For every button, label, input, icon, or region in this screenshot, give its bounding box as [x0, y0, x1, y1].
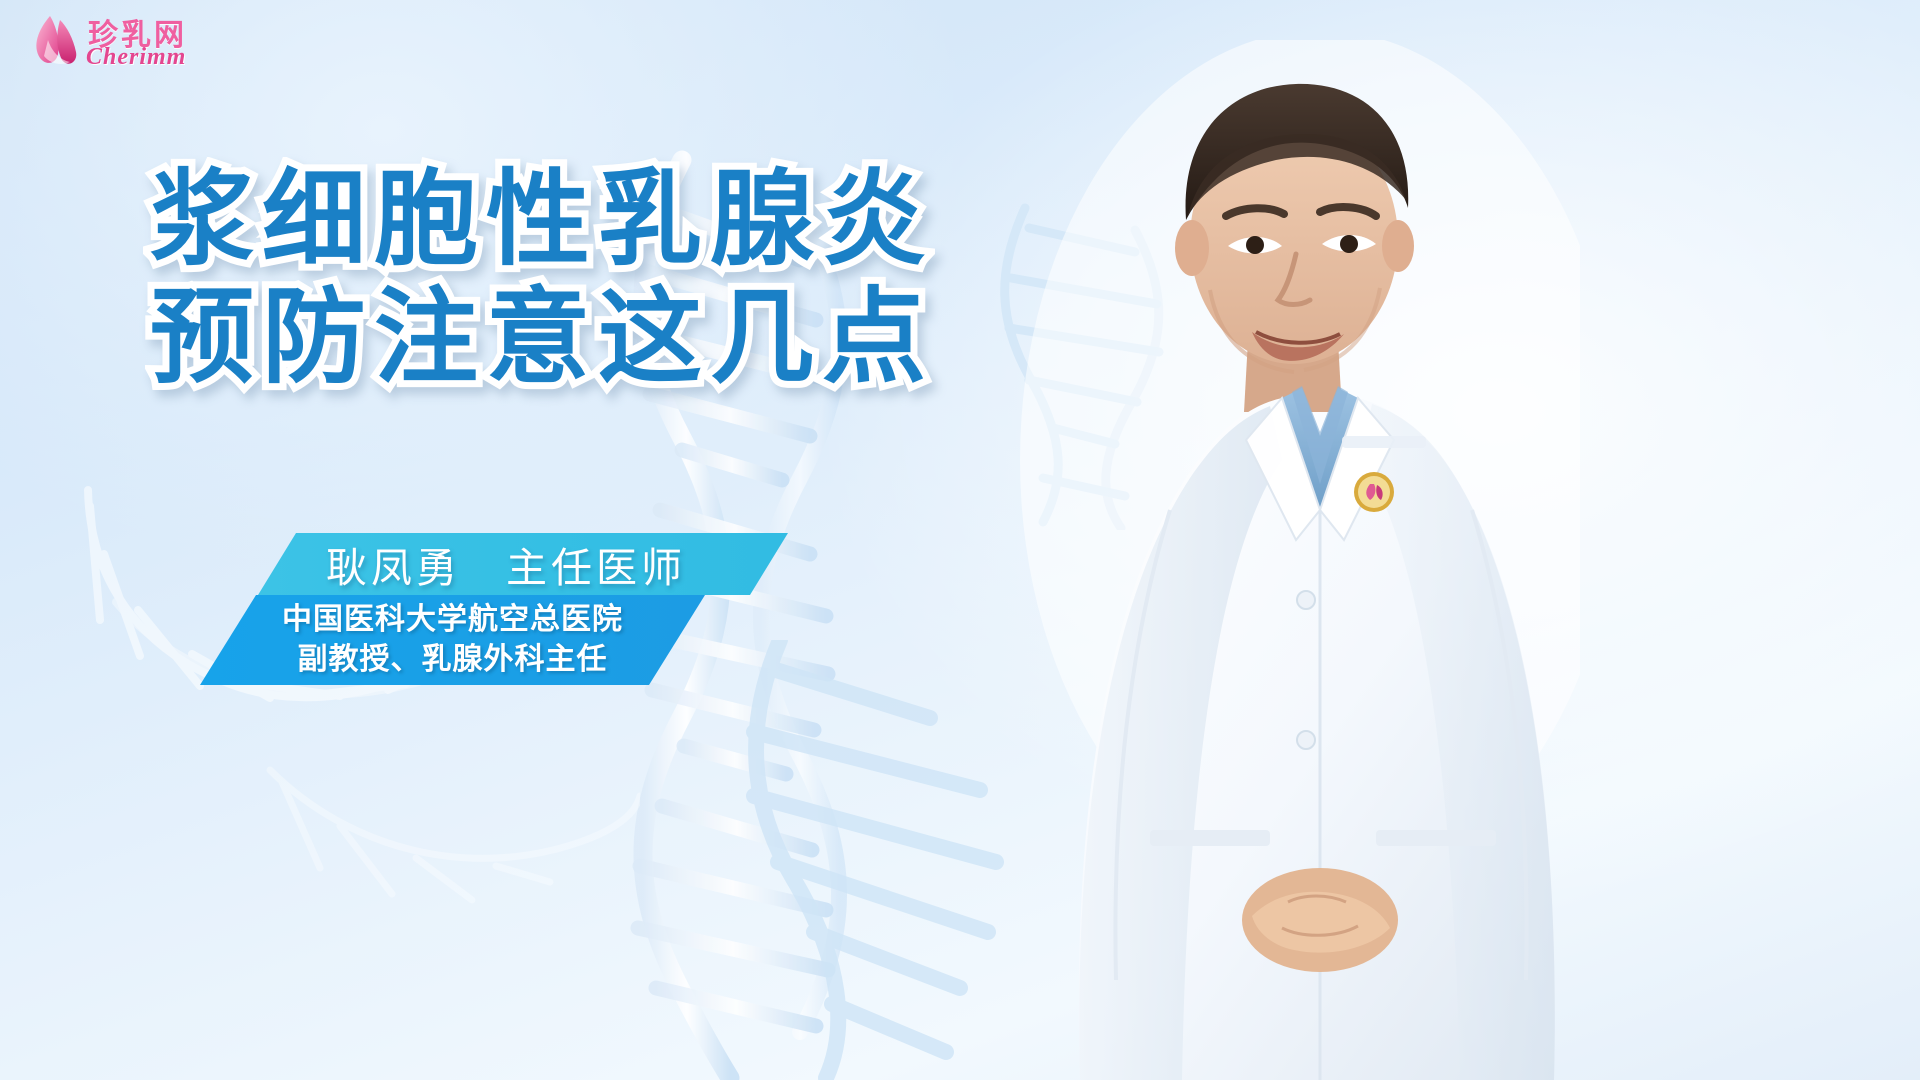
page-title: 浆细胞性乳腺炎 预防注意这几点 — [150, 160, 1050, 396]
brand-logo[interactable]: 珍乳网 Cherimm — [26, 6, 256, 72]
affiliation-line-2: 副教授、乳腺外科主任 — [298, 640, 608, 680]
gold-lapel-pin-icon — [1354, 472, 1394, 512]
speaker-name-banner: 耿凤勇 主任医师 — [258, 533, 788, 595]
title-line-1: 浆细胞性乳腺炎 — [150, 160, 1050, 278]
title-line-2: 预防注意这几点 — [150, 278, 1050, 396]
lotus-flower-icon — [26, 10, 84, 68]
affiliation-line-1: 中国医科大学航空总医院 — [282, 600, 623, 640]
doctor-portrait — [1020, 40, 1580, 1080]
speaker-name-text: 耿凤勇 主任医师 — [326, 534, 686, 594]
banner-canvas: 珍乳网 Cherimm 浆细胞性乳腺炎 预防注意这几点 耿凤勇 主任医师 中国医… — [0, 0, 1920, 1080]
brand-name-en: Cherimm — [86, 44, 186, 71]
speaker-credentials-banner: 中国医科大学航空总医院 副教授、乳腺外科主任 — [200, 595, 705, 685]
